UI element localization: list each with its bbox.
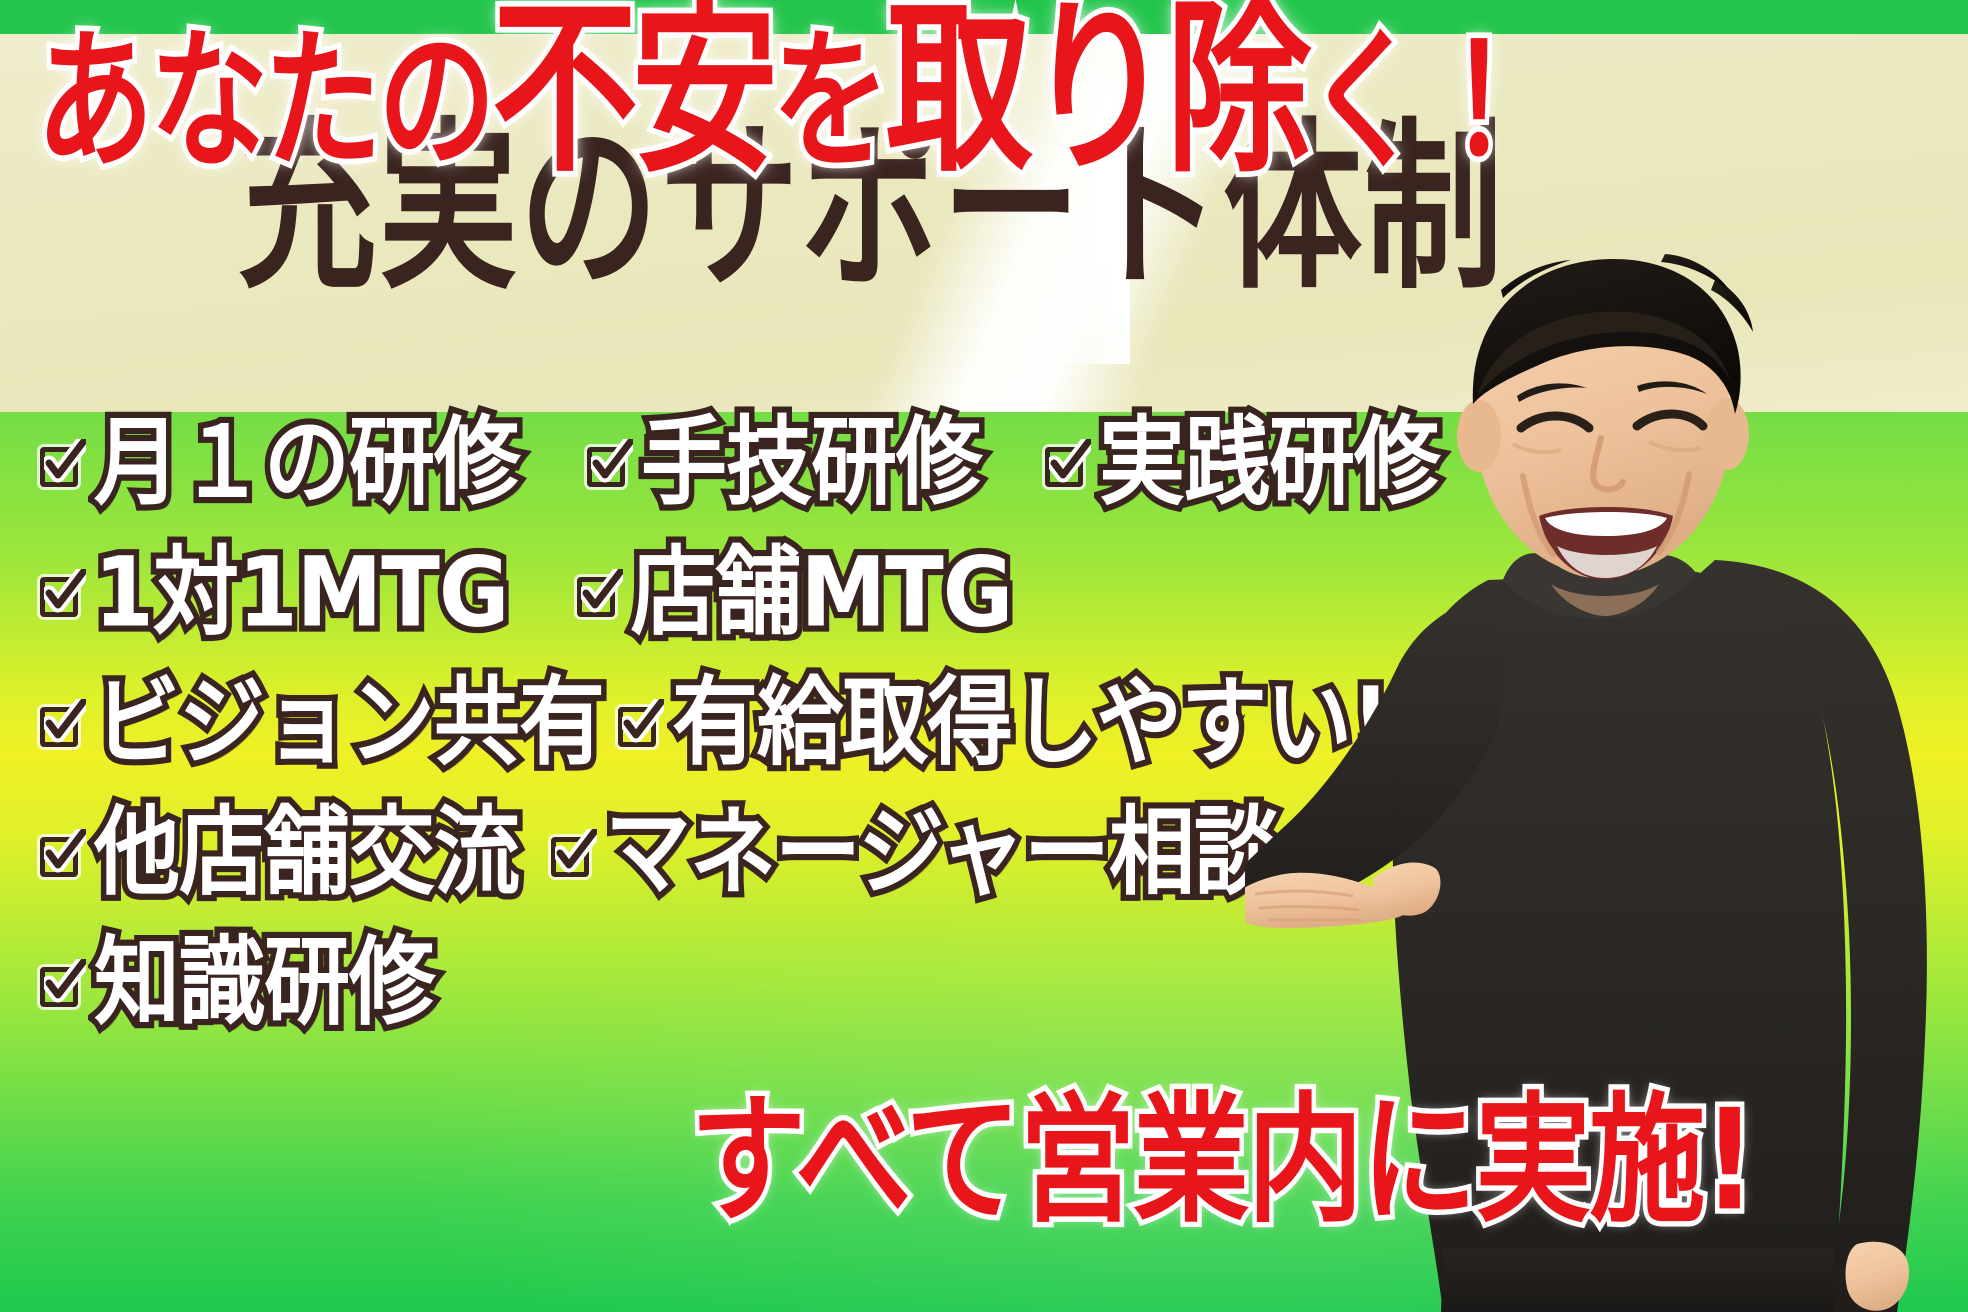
checklist-item[interactable]: 店舗MTG [575,550,1013,636]
checkbox-checked-icon [38,827,82,879]
checklist-row: 月１の研修 手技研修 実践研修 [38,420,1439,506]
checklist-label: 月１の研修 [94,415,519,511]
checklist-row: 他店舗交流 マネージャー相談 [38,810,1279,896]
checklist-label: 他店舗交流 [94,805,519,901]
headline-red-prefix: あなたの [36,13,492,190]
checklist-item[interactable]: 1対1MTG [38,550,509,636]
checkbox-checked-icon [38,957,82,1009]
checklist-label: ビジョン共有 [94,675,604,771]
checkbox-checked-icon [1043,437,1087,489]
headline-red-emphasis: 不安 [492,0,772,198]
checklist-row: 1対1MTG 店舗MTG [38,550,1012,636]
checklist-label: 実践研修 [1099,415,1439,511]
checklist-label: 有給取得しやすい! [672,675,1389,771]
checkbox-checked-icon [585,437,629,489]
checklist-item[interactable]: 手技研修 [585,420,981,506]
checklist-item[interactable]: 有給取得しやすい! [616,680,1389,766]
checklist-label: 手技研修 [641,415,981,511]
poster-canvas: あなたの不安を取り除く！ 充実のサポート体制 月１の研修 [0,0,1968,1312]
checkbox-checked-icon [38,437,82,489]
checklist-item[interactable]: 知識研修 [38,940,434,1026]
headline-red-suffix: く！ [1306,13,1534,190]
checklist-item[interactable]: ビジョン共有 [38,680,604,766]
checkbox-checked-icon [549,827,593,879]
headline-red-emphasis2: 取り除 [886,0,1306,198]
headline-red-middle: を [772,13,886,190]
checklist-item[interactable]: マネージャー相談 [549,810,1279,896]
checkbox-checked-icon [616,697,660,749]
checklist-label: マネージャー相談 [605,805,1279,901]
checklist-item[interactable]: 月１の研修 [38,420,519,506]
checklist-row: 知識研修 [38,940,434,1026]
checklist-label: 1対1MTG [94,545,509,641]
checklist-item[interactable]: 他店舗交流 [38,810,519,896]
checkbox-checked-icon [575,567,619,619]
checklist-label: 知識研修 [94,935,434,1031]
checkbox-checked-icon [38,567,82,619]
checklist-item[interactable]: 実践研修 [1043,420,1439,506]
checklist-label: 店舗MTG [631,545,1013,641]
footer-callout: すべて営業内に実施! [690,1092,1754,1231]
checklist-row: ビジョン共有 有給取得しやすい! [38,680,1389,766]
checkbox-checked-icon [38,697,82,749]
headline-red: あなたの不安を取り除く！ [36,0,1436,183]
